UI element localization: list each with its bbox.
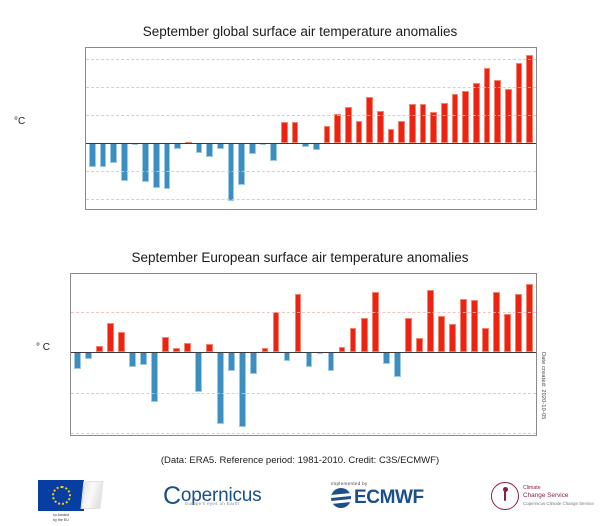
x-tick-mark (295, 209, 296, 210)
bar (196, 143, 203, 153)
x-tick-mark (444, 209, 445, 210)
bar (121, 143, 128, 181)
x-tick-mark (263, 209, 264, 210)
x-tick-mark (508, 209, 509, 210)
ecmwf-name: ECMWF (354, 487, 424, 509)
x-tick-mark (210, 209, 211, 210)
x-tick-mark (92, 209, 93, 210)
zero-line (86, 143, 536, 144)
bar (350, 328, 357, 352)
bar (449, 324, 456, 353)
bar-series-global (86, 48, 536, 209)
x-tick-mark (199, 209, 200, 210)
x-tick-mark (89, 435, 90, 436)
ecmwf-implemented-by-label: implemented by (331, 481, 424, 486)
bar (452, 94, 459, 143)
x-tick-mark (232, 435, 233, 436)
c3s-line3: Copernicus Climate Change Service (523, 501, 594, 507)
bar (526, 284, 533, 352)
x-tick-mark (146, 209, 147, 210)
bar (504, 314, 511, 352)
x-tick-mark (144, 435, 145, 436)
x-tick-mark (434, 209, 435, 210)
x-tick-mark (316, 209, 317, 210)
x-tick-mark (476, 209, 477, 210)
x-tick-mark (166, 435, 167, 436)
x-tick-mark (177, 435, 178, 436)
x-tick-mark (348, 209, 349, 210)
bar (515, 294, 522, 352)
x-tick-mark (221, 435, 222, 436)
x-tick-mark (412, 209, 413, 210)
bar (110, 143, 117, 163)
x-tick-mark (408, 435, 409, 436)
y-tick-mark (70, 312, 71, 313)
bar (292, 122, 299, 143)
x-tick-mark (122, 435, 123, 436)
x-tick-mark (242, 209, 243, 210)
eu-logo-subtitle: co-funded by the EU (38, 513, 84, 524)
bar (250, 352, 257, 373)
bar (164, 143, 171, 189)
bar (184, 343, 191, 352)
y-tick-mark (70, 352, 71, 353)
bar (334, 114, 341, 143)
copernicus-tagline: Europe's eyes on Earth (185, 501, 239, 506)
bar (89, 143, 96, 167)
y-axis-label-global: °C (14, 116, 25, 127)
bar (383, 352, 390, 363)
x-tick-mark (397, 435, 398, 436)
x-tick-mark (306, 209, 307, 210)
bar (494, 80, 501, 143)
date-created-stamp: Date created: 2020-10-05 (540, 352, 546, 419)
bar (493, 292, 500, 352)
x-tick-mark (430, 435, 431, 436)
bar (140, 352, 147, 365)
bar (441, 103, 448, 144)
x-tick-mark (485, 435, 486, 436)
y-axis-label-european: ° C (36, 342, 50, 353)
x-tick-mark (298, 435, 299, 436)
x-tick-mark (100, 435, 101, 436)
bar (460, 299, 467, 352)
c3s-thermometer-icon (491, 482, 519, 510)
bar (473, 83, 480, 143)
bar (462, 91, 469, 143)
x-tick-mark (265, 435, 266, 436)
bar (206, 143, 213, 157)
bar (366, 97, 373, 143)
x-tick-mark (284, 209, 285, 210)
bar (361, 318, 368, 352)
x-tick-mark (274, 209, 275, 210)
x-tick-mark (78, 435, 79, 436)
bar (273, 312, 280, 352)
climate-anomalies-figure: September global surface air temperature… (0, 0, 600, 526)
gridline (71, 312, 536, 313)
x-tick-mark (276, 435, 277, 436)
y-tick-mark (85, 143, 86, 144)
x-tick-mark (498, 209, 499, 210)
x-tick-mark (455, 209, 456, 210)
bar (100, 143, 107, 167)
bar (238, 143, 245, 185)
eu-stars-icon (52, 486, 71, 505)
y-tick-mark (70, 433, 71, 434)
y-tick-mark (85, 171, 86, 172)
gridline (86, 59, 536, 60)
x-tick-mark (391, 209, 392, 210)
bar (324, 126, 331, 143)
bar (394, 352, 401, 376)
zero-line (71, 352, 536, 353)
bar (345, 107, 352, 143)
x-tick-mark (243, 435, 244, 436)
x-tick-mark (463, 435, 464, 436)
bar (372, 292, 379, 352)
x-tick-mark (419, 435, 420, 436)
x-tick-mark (199, 435, 200, 436)
x-tick-mark (423, 209, 424, 210)
x-tick-mark (167, 209, 168, 210)
y-tick-label: -2 (70, 427, 71, 436)
x-tick-mark (364, 435, 365, 436)
c3s-logo: Climate Change Service Copernicus Climat… (491, 482, 594, 510)
x-tick-mark (254, 435, 255, 436)
x-tick-mark (353, 435, 354, 436)
bar (471, 300, 478, 352)
x-tick-mark (188, 209, 189, 210)
bar (228, 352, 235, 371)
bar (195, 352, 202, 392)
x-tick-mark (342, 435, 343, 436)
x-tick-mark (529, 435, 530, 436)
x-tick-mark (135, 209, 136, 210)
bar (281, 122, 288, 143)
bar (295, 294, 302, 352)
bar (142, 143, 149, 182)
x-tick-mark (133, 435, 134, 436)
x-tick-mark (178, 209, 179, 210)
bar (438, 316, 445, 352)
x-tick-mark (518, 435, 519, 436)
y-tick-mark (85, 87, 86, 88)
x-tick-mark (220, 209, 221, 210)
bar (129, 352, 136, 366)
x-tick-mark (487, 209, 488, 210)
x-tick-mark (370, 209, 371, 210)
x-tick-mark (386, 435, 387, 436)
x-tick-mark (155, 435, 156, 436)
bar (328, 352, 335, 370)
x-tick-mark (380, 209, 381, 210)
bar (151, 352, 158, 402)
eu-pages-icon (81, 481, 104, 509)
bar (409, 104, 416, 143)
y-tick-mark (85, 59, 86, 60)
gridline (86, 115, 536, 116)
y-tick-mark (70, 393, 71, 394)
x-tick-mark (111, 435, 112, 436)
x-tick-mark (331, 435, 332, 436)
y-tick-mark (85, 115, 86, 116)
x-tick-mark (231, 209, 232, 210)
x-tick-mark (530, 209, 531, 210)
x-tick-mark (452, 435, 453, 436)
x-tick-mark (287, 435, 288, 436)
chart-panel-european: September European surface air temperatu… (0, 250, 600, 460)
bar-series-european (71, 274, 536, 435)
x-tick-mark (320, 435, 321, 436)
footer-logos: co-funded by the EU Copernicus Europe's … (0, 468, 600, 526)
eu-subtitle-line2: by the EU (38, 518, 84, 523)
bar (405, 318, 412, 352)
chart-title-global: September global surface air temperature… (0, 24, 600, 39)
bar (249, 143, 256, 154)
bar (270, 143, 277, 161)
x-tick-mark (466, 209, 467, 210)
bar (420, 104, 427, 143)
figure-caption: (Data: ERA5. Reference period: 1981-2010… (0, 455, 600, 466)
y-tick-mark (85, 199, 86, 200)
plot-area-european: 10-1-21980198519901995200020052010201520… (70, 273, 537, 436)
x-tick-mark (496, 435, 497, 436)
x-tick-mark (156, 209, 157, 210)
x-tick-mark (252, 209, 253, 210)
gridline (71, 393, 536, 394)
bar (107, 323, 114, 352)
c3s-line2: Change Service (523, 492, 594, 501)
gridline (71, 433, 536, 434)
bar (217, 352, 224, 424)
x-tick-mark (309, 435, 310, 436)
x-tick-mark (188, 435, 189, 436)
bar (427, 290, 434, 352)
x-tick-mark (474, 435, 475, 436)
eu-logo: co-funded by the EU (38, 480, 84, 511)
x-tick-mark (114, 209, 115, 210)
x-tick-mark (507, 435, 508, 436)
x-tick-mark (359, 209, 360, 210)
bar (153, 143, 160, 188)
gridline (86, 199, 536, 200)
gridline (86, 87, 536, 88)
bar (484, 68, 491, 144)
x-tick-mark (375, 435, 376, 436)
bar (388, 129, 395, 143)
x-tick-mark (210, 435, 211, 436)
bar (398, 121, 405, 143)
bar (284, 352, 291, 361)
gridline (86, 171, 536, 172)
bar (206, 344, 213, 352)
c3s-line1: Climate (523, 485, 594, 492)
bar (313, 143, 320, 150)
bar (430, 112, 437, 143)
chart-panel-global: September global surface air temperature… (0, 24, 600, 234)
bar (526, 55, 533, 143)
bar (356, 121, 363, 143)
bar (162, 337, 169, 352)
bar (416, 338, 423, 352)
x-tick-mark (441, 435, 442, 436)
copernicus-initial: C (163, 482, 181, 510)
bar (118, 332, 125, 352)
x-tick-mark (124, 209, 125, 210)
x-tick-mark (519, 209, 520, 210)
x-tick-mark (402, 209, 403, 210)
bar (74, 352, 81, 369)
eu-flag-icon (38, 480, 84, 511)
x-tick-mark (338, 209, 339, 210)
bar (482, 328, 489, 353)
bar (306, 352, 313, 366)
ecmwf-logo: implemented by ECMWF (331, 481, 424, 509)
bar (239, 352, 246, 426)
chart-title-european: September European surface air temperatu… (0, 250, 600, 265)
ecmwf-waves-icon (331, 488, 351, 508)
plot-area-global: 0.60.40.20-0.2-0.41980198519901995200020… (85, 47, 537, 210)
x-tick-mark (327, 209, 328, 210)
x-tick-mark (103, 209, 104, 210)
bar (516, 63, 523, 143)
